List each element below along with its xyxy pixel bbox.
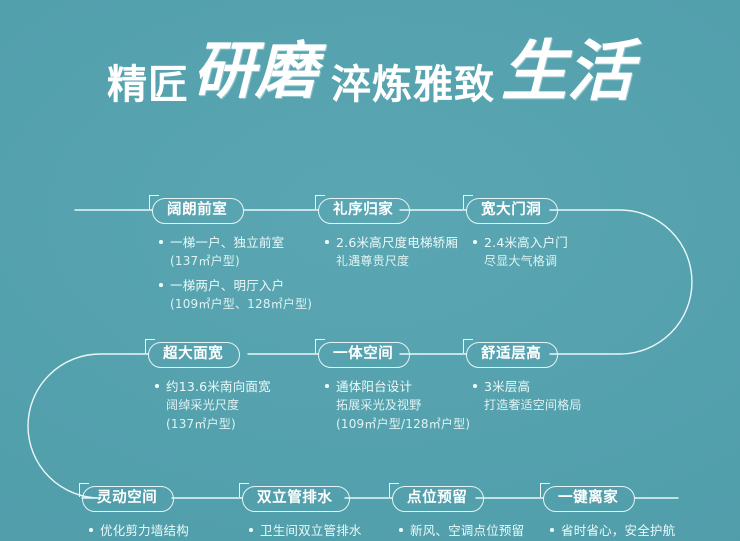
feature-title-chip[interactable]: 宽大门洞 (466, 198, 558, 224)
list-item: 2.4米高入户门 尽显大气格调 (484, 233, 568, 271)
bullet-main: 一梯两户、明厅入户 (170, 278, 284, 293)
bullet-sub: 阔绰采光尺度(137㎡户型) (166, 396, 271, 434)
list-item: 2.6米高尺度电梯轿厢 礼遇尊贵尺度 (336, 233, 458, 271)
feature-node-dianweiyuliu[interactable]: 点位预留 新风、空调点位预留 便于后期装修 (392, 486, 524, 541)
connector-left-uturn (28, 354, 148, 498)
bullet-sub: (109㎡户型、128㎡户型) (170, 295, 312, 314)
headline-segment-4: 生活 (501, 38, 633, 104)
list-item: 3米层高 打造奢适空间格局 (484, 377, 582, 415)
feature-bullet-list: 优化剪力墙结构 实现空间多变 (100, 521, 189, 541)
bullet-dot-icon (473, 384, 477, 388)
feature-title-chip[interactable]: 礼序归家 (318, 198, 410, 224)
bullet-main: 省时省心，安全护航 (561, 523, 675, 538)
feature-node-lixuguijia[interactable]: 礼序归家 2.6米高尺度电梯轿厢 礼遇尊贵尺度 (318, 198, 458, 276)
feature-node-lingdongkongjian[interactable]: 灵动空间 优化剪力墙结构 实现空间多变 (82, 486, 189, 541)
bullet-dot-icon (325, 384, 329, 388)
headline-segment-1: 精匠 (107, 65, 189, 105)
bullet-sub: 打造奢适空间格局 (484, 396, 582, 415)
connector-right-uturn (550, 210, 692, 354)
bullet-dot-icon (159, 283, 163, 287)
feature-bullet-list: 2.4米高入户门 尽显大气格调 (484, 233, 568, 271)
bullet-main: 新风、空调点位预留 (410, 523, 524, 538)
feature-title-chip[interactable]: 一体空间 (318, 342, 410, 368)
list-item: 新风、空调点位预留 便于后期装修 (410, 521, 524, 541)
bullet-dot-icon (325, 240, 329, 244)
feature-node-shushicenggao[interactable]: 舒适层高 3米层高 打造奢适空间格局 (466, 342, 582, 420)
bullet-dot-icon (159, 240, 163, 244)
poster-root: 精匠研磨淬炼雅致生活 阔 (0, 0, 740, 541)
page-title: 精匠研磨淬炼雅致生活 (0, 34, 740, 100)
list-item: 省时省心，安全护航 (561, 521, 675, 540)
bullet-dot-icon (399, 528, 403, 532)
feature-bullet-list: 新风、空调点位预留 便于后期装修 (410, 521, 524, 541)
feature-bullet-list: 一梯一户、独立前室 (137㎡户型) 一梯两户、明厅入户 (109㎡户型、128… (170, 233, 312, 314)
bullet-main: 一梯一户、独立前室 (170, 235, 284, 250)
feature-node-yijianlijia[interactable]: 一键离家 省时省心，安全护航 (543, 486, 675, 541)
bullet-sub: 拓展采光及视野(109㎡户型/128㎡户型) (336, 396, 470, 434)
list-item: 约13.6米南向面宽 阔绰采光尺度(137㎡户型) (166, 377, 271, 434)
bullet-dot-icon (249, 528, 253, 532)
feature-node-yitikongjian[interactable]: 一体空间 通体阳台设计 拓展采光及视野(109㎡户型/128㎡户型) (318, 342, 470, 439)
feature-title-chip[interactable]: 超大面宽 (148, 342, 240, 368)
feature-bullet-list: 卫生间双立管排水 有效防止异味 (260, 521, 362, 541)
bullet-dot-icon (550, 528, 554, 532)
list-item: 通体阳台设计 拓展采光及视野(109㎡户型/128㎡户型) (336, 377, 470, 434)
feature-title-chip[interactable]: 一键离家 (543, 486, 635, 512)
list-item: 卫生间双立管排水 有效防止异味 (260, 521, 362, 541)
bullet-dot-icon (89, 528, 93, 532)
bullet-sub: (137㎡户型) (170, 252, 312, 271)
feature-title-chip[interactable]: 灵动空间 (82, 486, 174, 512)
bullet-main: 3米层高 (484, 379, 530, 394)
feature-node-kuandamendong[interactable]: 宽大门洞 2.4米高入户门 尽显大气格调 (466, 198, 568, 276)
feature-node-kuolangqianshi[interactable]: 阔朗前室 一梯一户、独立前室 (137㎡户型) 一梯两户、明厅入户 (109㎡户… (152, 198, 312, 319)
feature-title-chip[interactable]: 双立管排水 (242, 486, 350, 512)
bullet-main: 卫生间双立管排水 (260, 523, 362, 538)
bullet-main: 2.6米高尺度电梯轿厢 (336, 235, 458, 250)
feature-bullet-list: 约13.6米南向面宽 阔绰采光尺度(137㎡户型) (166, 377, 271, 434)
bullet-main: 优化剪力墙结构 (100, 523, 189, 538)
bullet-main: 约13.6米南向面宽 (166, 379, 271, 394)
feature-title-chip[interactable]: 阔朗前室 (152, 198, 244, 224)
feature-bullet-list: 通体阳台设计 拓展采光及视野(109㎡户型/128㎡户型) (336, 377, 470, 434)
bullet-dot-icon (473, 240, 477, 244)
list-item: 一梯一户、独立前室 (137㎡户型) (170, 233, 312, 271)
list-item: 优化剪力墙结构 实现空间多变 (100, 521, 189, 541)
feature-node-shuangliguanpaishui[interactable]: 双立管排水 卫生间双立管排水 有效防止异味 (242, 486, 362, 541)
feature-title-chip[interactable]: 舒适层高 (466, 342, 558, 368)
feature-bullet-list: 2.6米高尺度电梯轿厢 礼遇尊贵尺度 (336, 233, 458, 271)
bullet-dot-icon (155, 384, 159, 388)
bullet-main: 通体阳台设计 (336, 379, 412, 394)
bullet-sub: 礼遇尊贵尺度 (336, 252, 458, 271)
headline-segment-2: 研磨 (193, 40, 317, 102)
headline-segment-3: 淬炼雅致 (331, 65, 495, 105)
feature-bullet-list: 省时省心，安全护航 (561, 521, 675, 540)
feature-bullet-list: 3米层高 打造奢适空间格局 (484, 377, 582, 415)
feature-node-chaodamiankuan[interactable]: 超大面宽 约13.6米南向面宽 阔绰采光尺度(137㎡户型) (148, 342, 271, 439)
bullet-sub: 尽显大气格调 (484, 252, 568, 271)
feature-title-chip[interactable]: 点位预留 (392, 486, 484, 512)
bullet-main: 2.4米高入户门 (484, 235, 568, 250)
list-item: 一梯两户、明厅入户 (109㎡户型、128㎡户型) (170, 276, 312, 314)
